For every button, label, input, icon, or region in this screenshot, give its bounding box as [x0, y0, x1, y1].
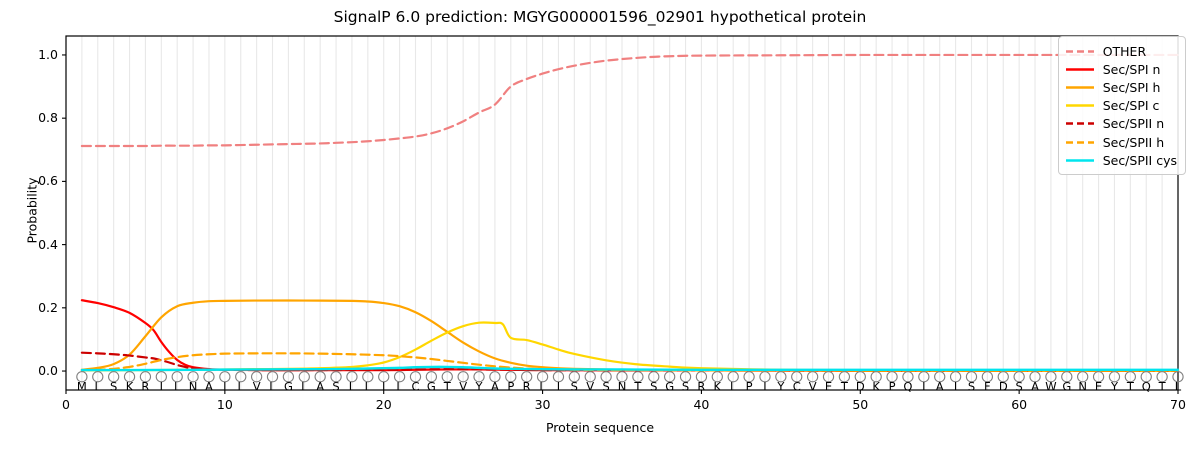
- residue-letter: L: [269, 379, 276, 393]
- legend-label: Sec/SPI h: [1103, 80, 1161, 95]
- residue-letter: Q: [1142, 379, 1151, 393]
- residue-letter: G: [284, 379, 293, 393]
- residue-letter: A: [936, 379, 944, 393]
- residue-letter: L: [365, 379, 372, 393]
- residue-letter: L: [238, 379, 245, 393]
- legend-label: Sec/SPII n: [1103, 116, 1164, 131]
- residue-letter: G: [1062, 379, 1071, 393]
- legend-label: Sec/SPI c: [1103, 98, 1160, 113]
- residue-letter: C: [793, 379, 801, 393]
- y-tick-label: 0.8: [14, 110, 58, 125]
- residue-letter: S: [650, 379, 657, 393]
- x-tick-label: 70: [1158, 397, 1198, 412]
- series-line-sec-spi-h: [82, 301, 1178, 371]
- residue-letter: I: [763, 379, 766, 393]
- residue-letter: S: [682, 379, 689, 393]
- residue-letter: T: [1158, 379, 1167, 393]
- residue-letter: S: [602, 379, 609, 393]
- residue-letter: S: [110, 379, 117, 393]
- residue-letter: C: [411, 379, 419, 393]
- residue-letter: T: [1126, 379, 1135, 393]
- series-line-sec-spii-cys: [82, 367, 1178, 370]
- legend-swatch-icon: [1065, 99, 1095, 112]
- residue-letter: S: [1015, 379, 1022, 393]
- y-axis-label: Probability: [25, 151, 40, 271]
- residue-letter: T: [633, 379, 642, 393]
- residue-letter: D: [999, 379, 1008, 393]
- residue-letter: I: [557, 379, 560, 393]
- legend-swatch-icon: [1065, 117, 1095, 130]
- residue-letter: L: [396, 379, 403, 393]
- grid-lines: [82, 36, 1178, 390]
- chart-legend: OTHERSec/SPI nSec/SPI hSec/SPI cSec/SPII…: [1058, 36, 1186, 175]
- residue-letter: V: [459, 379, 467, 393]
- residue-letter: T: [840, 379, 849, 393]
- residue-letter: E: [825, 379, 832, 393]
- residue-letter: N: [189, 379, 198, 393]
- residue-letter: L: [95, 379, 102, 393]
- residue-letter: K: [872, 379, 880, 393]
- legend-item-other[interactable]: OTHER: [1065, 42, 1177, 60]
- residue-letter: M: [77, 379, 87, 393]
- legend-label: OTHER: [1103, 44, 1146, 59]
- chart-title: SignalP 6.0 prediction: MGYG000001596_02…: [0, 8, 1200, 26]
- residue-letter: T: [443, 379, 452, 393]
- y-tick-label: 0.0: [14, 363, 58, 378]
- y-tick-label: 0.2: [14, 300, 58, 315]
- legend-label: Sec/SPII cys: [1103, 153, 1177, 168]
- residue-letter: Y: [1110, 379, 1119, 393]
- x-tick-label: 40: [681, 397, 721, 412]
- residue-letter: L: [539, 379, 546, 393]
- x-tick-label: 10: [205, 397, 245, 412]
- legend-item-sec-spii-h[interactable]: Sec/SPII h: [1065, 133, 1177, 151]
- legend-label: Sec/SPII h: [1103, 135, 1164, 150]
- legend-swatch-icon: [1065, 154, 1095, 167]
- residue-letter: Y: [475, 379, 484, 393]
- residue-letter: W: [1045, 379, 1056, 393]
- residue-letter: P: [507, 379, 514, 393]
- residue-letter: V: [809, 379, 817, 393]
- residue-letter: D: [856, 379, 865, 393]
- legend-swatch-icon: [1065, 81, 1095, 94]
- residue-letter: V: [253, 379, 261, 393]
- residue-letter: R: [523, 379, 531, 393]
- residue-letter: S: [968, 379, 975, 393]
- residue-letter: R: [141, 379, 149, 393]
- residue-letter: S: [332, 379, 339, 393]
- residue-letter: G: [427, 379, 436, 393]
- data-series: [82, 55, 1178, 371]
- y-tick-label: 0.4: [14, 237, 58, 252]
- legend-item-sec-spi-c[interactable]: Sec/SPI c: [1065, 97, 1177, 115]
- residue-letter: V: [586, 379, 594, 393]
- legend-swatch-icon: [1065, 45, 1095, 58]
- series-line-other: [82, 55, 1178, 146]
- residue-letter: K: [126, 379, 134, 393]
- residue-letter: A: [491, 379, 499, 393]
- residue-letter: P: [746, 379, 753, 393]
- x-axis-label: Protein sequence: [0, 420, 1200, 435]
- legend-item-sec-spii-n[interactable]: Sec/SPII n: [1065, 115, 1177, 133]
- legend-label: Sec/SPI n: [1103, 62, 1161, 77]
- residue-letter: F: [984, 379, 991, 393]
- signalp-prediction-figure: SignalP 6.0 prediction: MGYG000001596_02…: [0, 0, 1200, 450]
- tick-marks: [62, 55, 1178, 394]
- legend-item-sec-spi-n[interactable]: Sec/SPI n: [1065, 60, 1177, 78]
- residue-letter: I: [223, 379, 226, 393]
- residue-letter: S: [571, 379, 578, 393]
- residue-letter: L: [730, 379, 737, 393]
- residue-letter: N: [618, 379, 627, 393]
- x-tick-label: 20: [364, 397, 404, 412]
- plot-canvas: MLSKRILNAILVLGLASLLILCGTVYAPRLISVSNTSGSR…: [0, 0, 1200, 450]
- residue-letter: I: [382, 379, 385, 393]
- residue-letter: A: [1031, 379, 1039, 393]
- legend-item-sec-spi-h[interactable]: Sec/SPI h: [1065, 78, 1177, 96]
- residue-letter: Y: [776, 379, 785, 393]
- x-tick-label: 60: [999, 397, 1039, 412]
- residue-letter: L: [1175, 379, 1182, 393]
- residue-letter: A: [205, 379, 213, 393]
- residue-letter: I: [922, 379, 925, 393]
- residue-letter: E: [1095, 379, 1102, 393]
- residue-letter: I: [160, 379, 163, 393]
- x-tick-label: 50: [840, 397, 880, 412]
- y-tick-label: 1.0: [14, 47, 58, 62]
- x-tick-label: 0: [46, 397, 86, 412]
- residue-letter: A: [316, 379, 324, 393]
- residue-letter: G: [665, 379, 674, 393]
- series-line-sec-spi-c: [82, 322, 1178, 370]
- residue-letter: K: [714, 379, 722, 393]
- residue-letter: P: [889, 379, 896, 393]
- series-line-sec-spii-n: [82, 353, 1178, 371]
- residue-letter: L: [301, 379, 308, 393]
- legend-swatch-icon: [1065, 136, 1095, 149]
- residue-letter: L: [349, 379, 356, 393]
- x-tick-label: 30: [523, 397, 563, 412]
- legend-item-sec-spii-cys[interactable]: Sec/SPII cys: [1065, 151, 1177, 169]
- series-line-sec-spii-h: [82, 353, 1178, 370]
- y-tick-label: 0.6: [14, 173, 58, 188]
- residue-letter: R: [697, 379, 705, 393]
- residue-letter: Q: [903, 379, 912, 393]
- residue-letter: L: [174, 379, 181, 393]
- residue-letter: I: [954, 379, 957, 393]
- series-line-sec-spi-n: [82, 300, 1178, 371]
- residue-letter: N: [1078, 379, 1087, 393]
- legend-swatch-icon: [1065, 63, 1095, 76]
